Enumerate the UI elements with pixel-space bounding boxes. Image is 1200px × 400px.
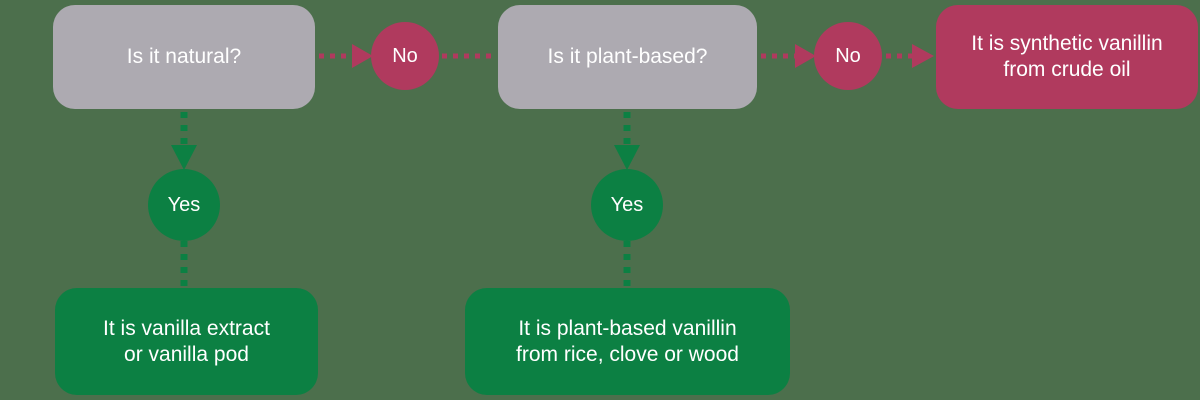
node-synthetic-vanillin[interactable]: It is synthetic vanillin from crude oil [936, 5, 1198, 109]
flowchart-canvas: Is it natural? No Is it plant-based? No … [0, 0, 1200, 400]
arrowhead-icon [795, 44, 816, 68]
arrowhead-icon [352, 44, 373, 68]
arrowhead-icon [614, 145, 640, 170]
edge-label-yes-2[interactable]: Yes [591, 169, 663, 241]
arrowhead-icon [171, 145, 197, 170]
node-is-it-plant-based[interactable]: Is it plant-based? [498, 5, 757, 109]
node-is-it-natural[interactable]: Is it natural? [53, 5, 315, 109]
edge-label-no-2[interactable]: No [814, 22, 882, 90]
node-vanilla-extract-label: It is vanilla extract or vanilla pod [93, 316, 280, 367]
edge-label-no-1[interactable]: No [371, 22, 439, 90]
edge-label-yes-2-text: Yes [601, 193, 654, 217]
node-plant-based-vanillin[interactable]: It is plant-based vanillin from rice, cl… [465, 288, 790, 395]
node-vanilla-extract[interactable]: It is vanilla extract or vanilla pod [55, 288, 318, 395]
arrowhead-icon [912, 44, 934, 68]
node-plant-based-vanillin-label: It is plant-based vanillin from rice, cl… [506, 316, 749, 367]
node-is-it-plant-based-label: Is it plant-based? [538, 44, 718, 70]
edge-natural-to-yes1 [171, 112, 197, 170]
edge-label-yes-1-text: Yes [158, 193, 211, 217]
edge-plant-to-no2 [761, 44, 816, 68]
edge-label-no-2-text: No [825, 44, 871, 68]
edge-label-yes-1[interactable]: Yes [148, 169, 220, 241]
edge-no2-to-synthetic [886, 44, 934, 68]
node-is-it-natural-label: Is it natural? [117, 44, 251, 70]
edge-natural-to-no1 [319, 44, 373, 68]
node-synthetic-vanillin-label: It is synthetic vanillin from crude oil [961, 31, 1172, 82]
edge-label-no-1-text: No [382, 44, 428, 68]
edge-plant-to-yes2 [614, 112, 640, 170]
